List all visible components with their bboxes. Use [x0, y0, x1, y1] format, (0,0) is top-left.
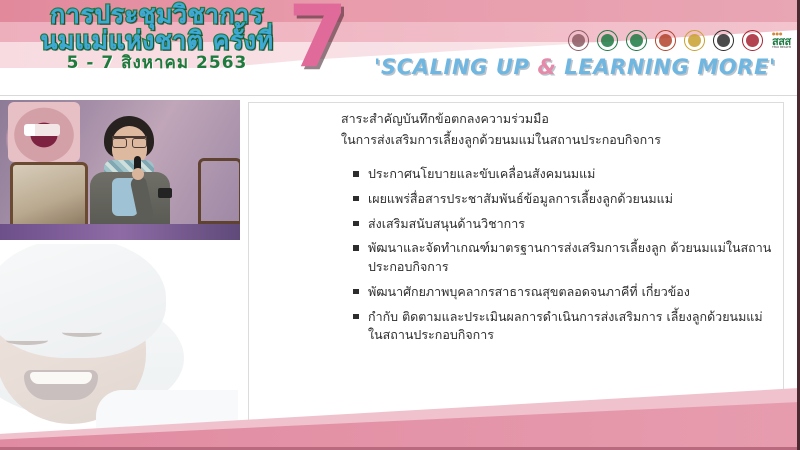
- presentation-slide: การประชุมวิชาการ นมแม่แห่งชาติ ครั้งที่ …: [0, 0, 800, 450]
- conference-tagline: 'SCALING UP & LEARNING MORE': [360, 55, 790, 79]
- intro-heading: สาระสำคัญบันทึกข้อตกลงความร่วมมือ ในการส…: [341, 109, 771, 150]
- conference-date: 5 - 7 สิงหาคม 2563: [22, 55, 292, 72]
- list-item: กำกับ ติดตามและประเมินผลการดำเนินการส่งเ…: [353, 308, 773, 346]
- child-eye-right: [62, 328, 102, 337]
- royal-emblem-disc: [568, 30, 589, 51]
- list-item: ส่งเสริมสนับสนุนด้านวิชาการ: [353, 215, 773, 234]
- thaihealth-logo: ●●● สสส THAI HEALTH: [769, 27, 794, 54]
- black-seal-disc: [713, 30, 734, 51]
- black-seal-logo: [711, 27, 736, 54]
- royal-garuda-logo: [682, 27, 707, 54]
- crown-inner: [659, 34, 672, 47]
- slide-footer-bands: [0, 388, 800, 450]
- armchair-right: [198, 158, 240, 224]
- backdrop-mouth-graphic: [8, 102, 80, 162]
- speaker-figure: [82, 116, 174, 240]
- department-inner: [630, 34, 643, 47]
- thaihealth-sublabel: THAI HEALTH: [772, 47, 791, 50]
- stage-floor: [0, 224, 240, 240]
- conference-title-line2: นมแม่แห่งชาติ ครั้งที่: [22, 28, 292, 54]
- child-eye-left: [6, 336, 48, 345]
- intro-line-1: สาระสำคัญบันทึกข้อตกลงความร่วมมือ: [341, 109, 771, 130]
- red-seal-logo: [740, 27, 765, 54]
- royal-emblem-logo: [566, 27, 591, 54]
- thaihealth-wordmark: ●●● สสส THAI HEALTH: [772, 32, 791, 50]
- ministry-inner: [601, 34, 614, 47]
- edition-number: 7: [288, 0, 348, 80]
- garuda-inner: [688, 34, 701, 47]
- department-disc: [626, 30, 647, 51]
- presenter-remote: [158, 188, 172, 198]
- tagline-ampersand: &: [537, 55, 556, 79]
- ministry-public-health-logo: [595, 27, 620, 54]
- conference-title: การประชุมวิชาการ นมแม่แห่งชาติ ครั้งที่ …: [22, 2, 292, 72]
- department-health-logo: [624, 27, 649, 54]
- red-seal-disc: [742, 30, 763, 51]
- tagline-part2: LEARNING MORE': [556, 55, 776, 79]
- bullet-list: ประกาศนโยบายและขับเคลื่อนสังคมนมแม่ เผยแ…: [353, 165, 773, 351]
- crown-emblem-logo: [653, 27, 678, 54]
- garuda-disc: [684, 30, 705, 51]
- slide-header-banner: การประชุมวิชาการ นมแม่แห่งชาติ ครั้งที่ …: [0, 0, 800, 96]
- footer-band-dark: [0, 402, 800, 450]
- crown-disc: [655, 30, 676, 51]
- child-teeth: [30, 372, 92, 384]
- black-seal-inner: [717, 34, 730, 47]
- intro-line-2: ในการส่งเสริมการเลี้ยงลูกด้วยนมแม่ในสถาน…: [341, 130, 771, 151]
- armchair-left: [10, 162, 88, 228]
- glasses-icon: [112, 136, 147, 144]
- list-item: พัฒนาและจัดทำเกณฑ์มาตรฐานการส่งเสริมการเ…: [353, 239, 773, 277]
- conference-title-line1: การประชุมวิชาการ: [22, 2, 292, 28]
- content-panel: สาระสำคัญบันทึกข้อตกลงความร่วมมือ ในการส…: [248, 102, 784, 426]
- red-seal-inner: [746, 34, 759, 47]
- royal-emblem-inner: [572, 34, 585, 47]
- list-item: ประกาศนโยบายและขับเคลื่อนสังคมนมแม่: [353, 165, 773, 184]
- tagline-part1: 'SCALING UP: [374, 55, 538, 79]
- ministry-disc: [597, 30, 618, 51]
- list-item: พัฒนาศักยภาพบุคลากรสาธารณสุขตลอดจนภาคีที…: [353, 283, 773, 302]
- speaker-hand: [132, 168, 144, 180]
- sponsor-logo-strip: ●●● สสส THAI HEALTH: [566, 27, 794, 54]
- speaker-on-stage-photo: [0, 100, 240, 240]
- list-item: เผยแพร่สื่อสารประชาสัมพันธ์ข้อมูลการเลี้…: [353, 190, 773, 209]
